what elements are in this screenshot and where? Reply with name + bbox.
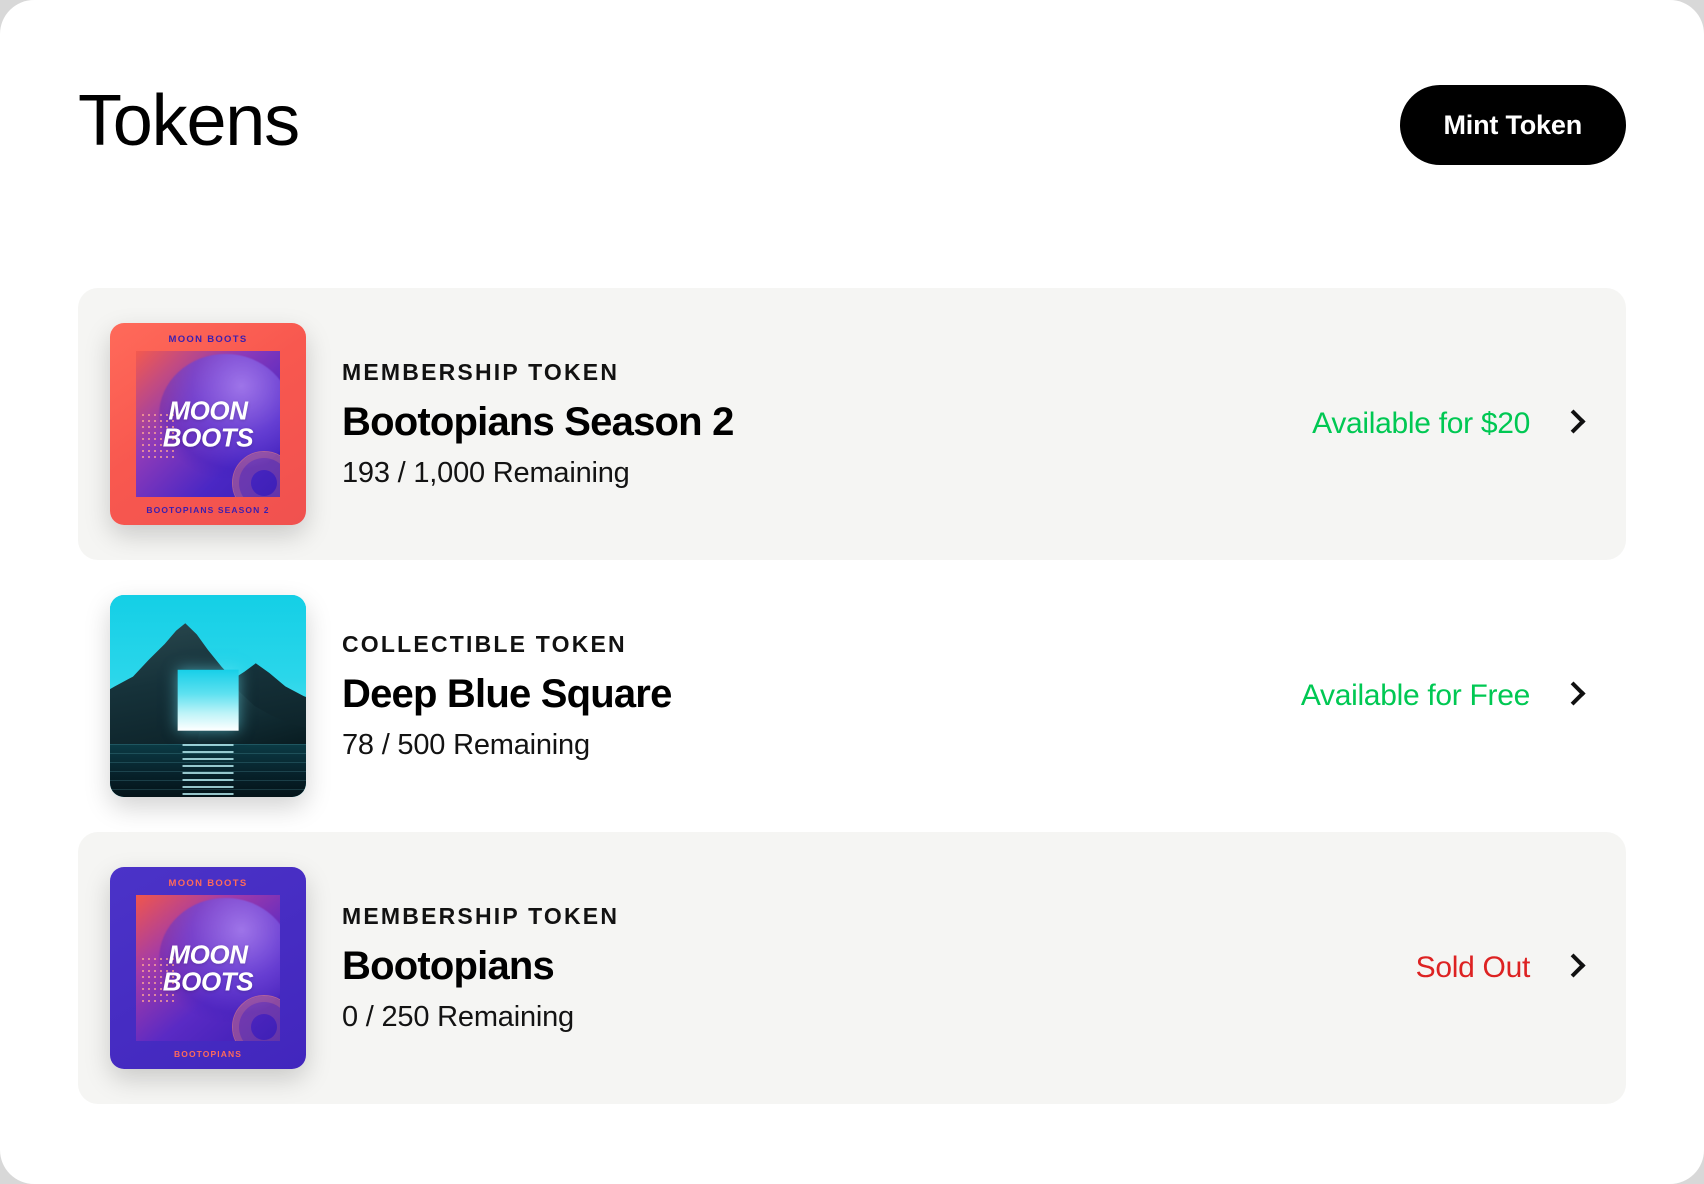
token-thumbnail[interactable]: MOON BOOTS MEMBERSHIP TOKEN EDITION OF 2… (110, 867, 306, 1069)
mint-token-button[interactable]: Mint Token (1400, 85, 1627, 165)
token-thumbnail-wrap (110, 595, 306, 797)
token-name: Deep Blue Square (342, 672, 1301, 717)
token-name: Bootopians Season 2 (342, 400, 1312, 445)
token-list: MOON BOOTS MEMBERSHIP TOKEN EDITION OF 2… (78, 288, 1626, 1104)
token-artwork: MOON BOOTS MEMBERSHIP TOKEN EDITION OF 2… (110, 867, 306, 1069)
artwork-bottom-label: BOOTOPIANS (110, 1049, 306, 1059)
token-thumbnail-wrap: MOON BOOTS MEMBERSHIP TOKEN EDITION OF 2… (110, 867, 306, 1069)
token-remaining-count: 0 / 250 Remaining (342, 1001, 1416, 1034)
token-remaining-count: 193 / 1,000 Remaining (342, 457, 1312, 490)
status-badge: Sold Out (1416, 951, 1530, 985)
token-name: Bootopians (342, 944, 1416, 989)
token-kind-label: MEMBERSHIP TOKEN (342, 903, 1416, 930)
token-info: MEMBERSHIP TOKEN Bootopians 0 / 250 Rema… (306, 903, 1416, 1034)
square-reflection (183, 744, 234, 797)
artwork-inner: MOONBOOTS (136, 351, 280, 497)
token-status: Available for $20 (1312, 407, 1586, 441)
status-badge: Available for $20 (1312, 407, 1530, 441)
chevron-right-icon[interactable] (1564, 680, 1582, 712)
token-artwork: MOON BOOTS MEMBERSHIP TOKEN EDITION OF 2… (110, 323, 306, 525)
artwork-inner: MOONBOOTS (136, 895, 280, 1041)
token-row[interactable]: COLLECTIBLE TOKEN Deep Blue Square 78 / … (78, 560, 1626, 832)
artwork-wordmark: MOONBOOTS (136, 397, 280, 450)
token-remaining-count: 78 / 500 Remaining (342, 729, 1301, 762)
token-status: Available for Free (1301, 679, 1586, 713)
token-artwork (110, 595, 306, 797)
token-kind-label: COLLECTIBLE TOKEN (342, 631, 1301, 658)
artwork-bottom-label: BOOTOPIANS SEASON 2 (110, 505, 306, 515)
artwork-wordmark: MOONBOOTS (136, 941, 280, 994)
page-header: Tokens Mint Token (0, 0, 1704, 250)
artwork-top-label: MOON BOOTS (110, 878, 306, 889)
token-thumbnail[interactable] (110, 595, 306, 797)
app-screen: Tokens Mint Token MOON BOOTS MEMBERSHIP … (0, 0, 1704, 1184)
artwork-top-label: MOON BOOTS (110, 334, 306, 345)
token-thumbnail[interactable]: MOON BOOTS MEMBERSHIP TOKEN EDITION OF 2… (110, 323, 306, 525)
chevron-right-icon[interactable] (1564, 408, 1582, 440)
token-status: Sold Out (1416, 951, 1586, 985)
token-info: COLLECTIBLE TOKEN Deep Blue Square 78 / … (306, 631, 1301, 762)
status-badge: Available for Free (1301, 679, 1530, 713)
chevron-right-icon[interactable] (1564, 952, 1582, 984)
token-kind-label: MEMBERSHIP TOKEN (342, 359, 1312, 386)
token-info: MEMBERSHIP TOKEN Bootopians Season 2 193… (306, 359, 1312, 490)
page-title: Tokens (78, 78, 299, 164)
token-thumbnail-wrap: MOON BOOTS MEMBERSHIP TOKEN EDITION OF 2… (110, 323, 306, 525)
token-row[interactable]: MOON BOOTS MEMBERSHIP TOKEN EDITION OF 2… (78, 832, 1626, 1104)
glowing-square-shape (178, 670, 239, 731)
token-row[interactable]: MOON BOOTS MEMBERSHIP TOKEN EDITION OF 2… (78, 288, 1626, 560)
